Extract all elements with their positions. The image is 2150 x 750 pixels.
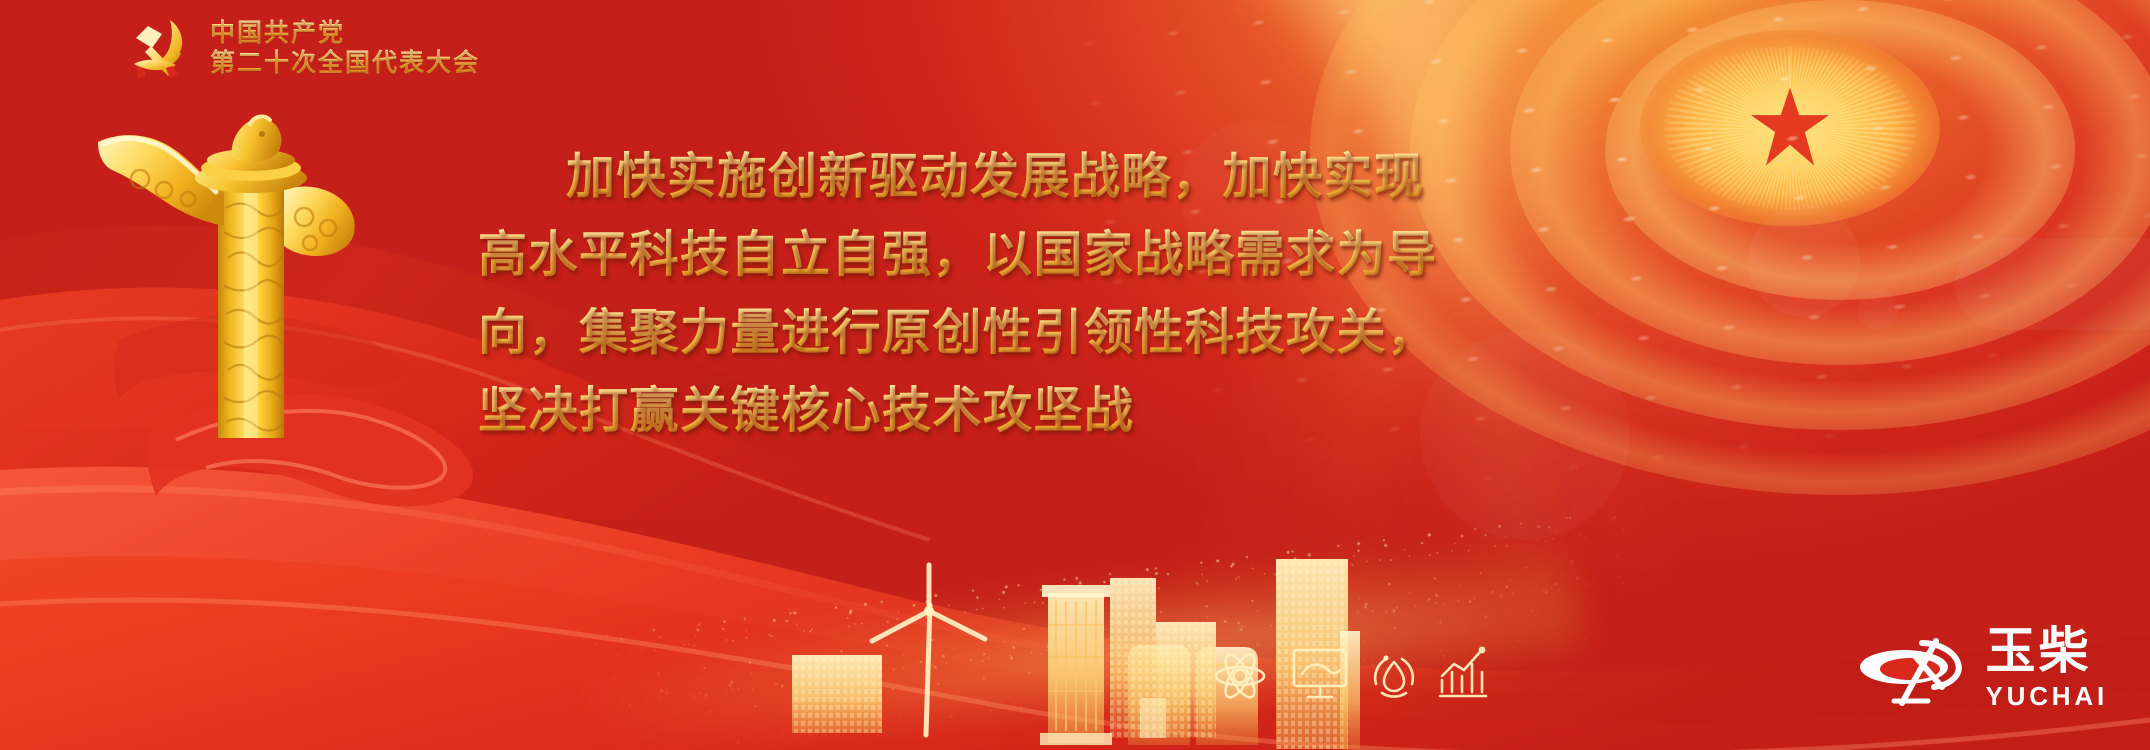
tower-building xyxy=(1040,585,1112,745)
headline-line-4: 坚决打赢关键核心技术攻坚战 xyxy=(478,372,1638,450)
yuchai-name-cn: 玉柴 xyxy=(1986,627,2092,676)
party-congress-banner: 中国共产党 第二十次全国代表大会 加快实施创新驱动发展战略，加快实现 高水平科技… xyxy=(0,0,2150,750)
headline-slogan: 加快实施创新驱动发展战略，加快实现 高水平科技自立自强，以国家战略需求为导 向，… xyxy=(478,138,1638,450)
wind-turbine-icon xyxy=(872,565,985,735)
monitor-display-icon xyxy=(1294,650,1346,697)
hammer-sickle-icon xyxy=(118,8,196,86)
headline-line-2: 高水平科技自立自强，以国家战略需求为导 xyxy=(478,216,1638,294)
headline-line-1: 加快实施创新驱动发展战略，加快实现 xyxy=(478,138,1638,216)
headline-line-3: 向，集聚力量进行原创性引领性科技攻关， xyxy=(478,294,1638,372)
atom-icon xyxy=(1216,651,1264,702)
cpc-congress-logo: 中国共产党 第二十次全国代表大会 xyxy=(118,8,480,86)
technology-icon-row xyxy=(1210,640,1500,712)
yuchai-name-en: YUCHAI xyxy=(1986,681,2108,712)
cpc-logo-line1: 中国共产党 xyxy=(210,19,480,46)
building-block xyxy=(792,655,882,733)
water-drop-recycle-icon xyxy=(1375,655,1413,696)
huabiao-column-icon xyxy=(92,108,362,438)
growth-bar-chart-icon xyxy=(1440,647,1486,696)
yuchai-brand-logo: 玉柴 YUCHAI xyxy=(1858,627,2108,712)
yuchai-ellipse-mark-icon xyxy=(1858,629,1974,711)
cpc-logo-line2: 第二十次全国代表大会 xyxy=(210,49,480,76)
